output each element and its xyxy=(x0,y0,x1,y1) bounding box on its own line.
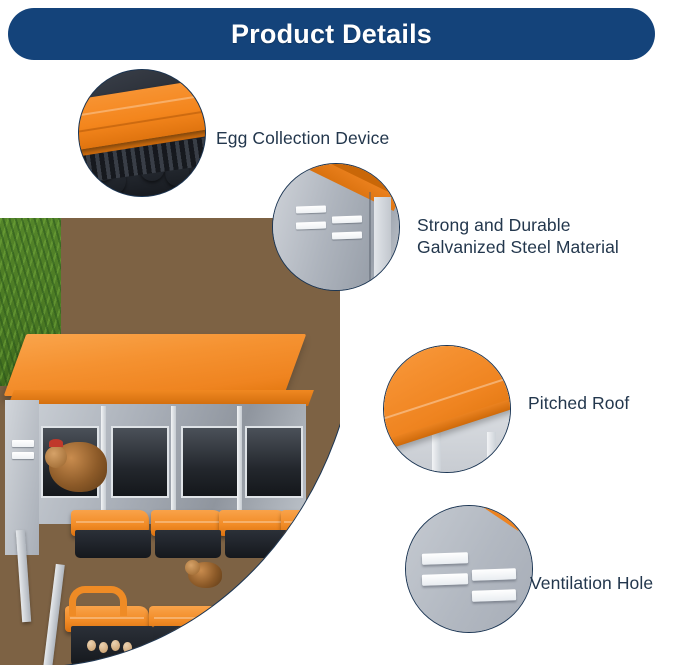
side-vent-slot xyxy=(12,440,34,447)
chicken-nesting-box xyxy=(5,334,335,665)
product-details-banner: Product Details xyxy=(8,8,655,60)
product-details-infographic: Product Details xyxy=(0,0,679,665)
callout-label-galvanized-steel: Strong and Durable Galvanized Steel Mate… xyxy=(417,214,619,259)
egg-collection-tray xyxy=(155,530,221,558)
egg xyxy=(111,640,120,651)
callout-circle-pitched-roof xyxy=(383,345,511,473)
chicken-head xyxy=(45,446,67,468)
nest-compartment-opening xyxy=(245,426,303,498)
egg xyxy=(87,640,96,651)
chicken-comb xyxy=(49,439,63,447)
egg xyxy=(99,642,108,653)
callout-circle-ventilation-hole xyxy=(405,505,533,633)
nest-lid-tier-upper xyxy=(13,510,331,566)
side-vent-slot xyxy=(12,452,34,459)
steel-corner-post xyxy=(374,197,392,290)
coop-roof-panel xyxy=(4,334,307,396)
page-title: Product Details xyxy=(231,19,432,50)
vent-slot xyxy=(296,221,326,229)
roof-support-post xyxy=(432,432,441,472)
egg xyxy=(123,642,132,653)
vent-slot xyxy=(332,232,362,240)
egg-collection-tray xyxy=(225,530,287,558)
roof-support-post xyxy=(487,432,496,472)
coop-divider xyxy=(171,406,176,518)
nest-box-lid xyxy=(281,606,337,632)
vent-slot xyxy=(471,568,515,581)
egg-collection-tray xyxy=(153,626,223,660)
callout-label-ventilation-hole: Ventilation Hole xyxy=(530,572,653,594)
steel-seam xyxy=(369,192,371,290)
callout-circle-egg-collection xyxy=(78,69,206,197)
lid-handle xyxy=(69,586,127,616)
vent-slot xyxy=(471,590,515,603)
vent-slot xyxy=(422,573,468,586)
vent-slot xyxy=(332,215,362,223)
coop-divider xyxy=(237,406,242,518)
vent-slot xyxy=(422,552,468,565)
callout-label-egg-collection: Egg Collection Device xyxy=(216,127,389,149)
vent-slot xyxy=(296,205,326,213)
egg-collection-tray xyxy=(75,530,151,558)
callout-label-pitched-roof: Pitched Roof xyxy=(528,392,629,414)
callout-circle-galvanized-steel xyxy=(272,163,400,291)
nest-box-lid xyxy=(281,510,333,536)
nest-compartment-opening xyxy=(111,426,169,498)
nest-compartment-opening xyxy=(181,426,239,498)
